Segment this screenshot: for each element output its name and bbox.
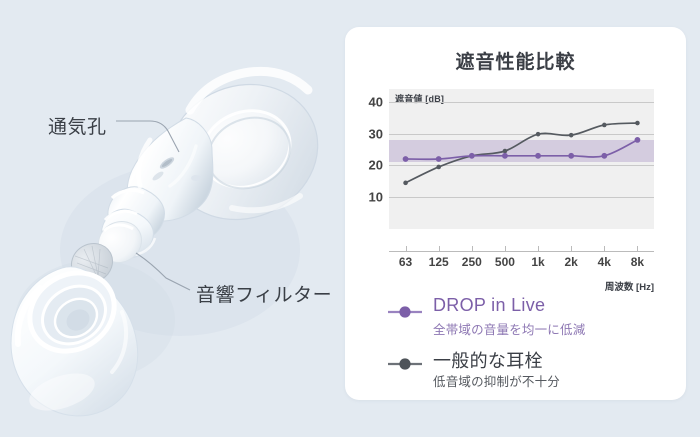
- series-data-point: [536, 132, 541, 137]
- series-data-point: [503, 149, 508, 154]
- series-data-point: [469, 153, 475, 159]
- x-axis-tick-mark: [637, 246, 638, 251]
- earplug-illustration: 通気孔 音響フィルター: [0, 0, 345, 432]
- series-data-point: [568, 153, 574, 159]
- screenshot-root: 通気孔 音響フィルター 遮音性能比較 遮音値 [dB] 10203040 631…: [0, 0, 700, 432]
- legend-item-drop-in-live: DROP in Live 全帯域の音量を均一に低減: [345, 299, 686, 351]
- legend-sublabel-drop-in-live: 全帯域の音量を均一に低減: [433, 319, 585, 338]
- callout-label-filter: 音響フィルター: [196, 280, 332, 307]
- series-data-point: [635, 137, 641, 143]
- series-data-point: [502, 153, 508, 159]
- legend-marker-icon: [387, 305, 423, 319]
- x-axis-tick-label: 1k: [531, 255, 544, 269]
- x-axis-tick-label: 8k: [631, 255, 644, 269]
- series-data-point: [535, 153, 541, 159]
- legend-item-generic-earplug: 一般的な耳栓 低音域の抑制が不十分: [345, 351, 686, 403]
- series-data-point: [403, 181, 408, 186]
- x-axis-tick-label: 4k: [598, 255, 611, 269]
- x-axis-tick-label: 500: [495, 255, 515, 269]
- x-axis-tick-label: 63: [399, 255, 412, 269]
- series-data-point: [403, 156, 409, 162]
- chart-card: 遮音性能比較 遮音値 [dB] 10203040 631252505001k2k…: [345, 27, 686, 400]
- chart-title: 遮音性能比較: [345, 47, 686, 74]
- series-data-point: [635, 121, 640, 126]
- legend-sublabel-generic-earplug: 低音域の抑制が不十分: [433, 371, 560, 390]
- x-axis-tick-mark: [472, 246, 473, 251]
- legend-marker-icon: [387, 357, 423, 371]
- x-axis-tick-label: 2k: [565, 255, 578, 269]
- x-axis-tick-label: 250: [462, 255, 482, 269]
- x-axis-tick-mark: [439, 246, 440, 251]
- x-axis-line: [389, 251, 654, 252]
- x-axis-tick-mark: [505, 246, 506, 251]
- series-data-point: [601, 153, 607, 159]
- legend-label-drop-in-live: DROP in Live: [433, 295, 545, 316]
- earplug-render: [0, 0, 345, 432]
- x-axis-tick-mark: [571, 246, 572, 251]
- series-data-point: [436, 165, 441, 170]
- legend-label-generic-earplug: 一般的な耳栓: [433, 347, 543, 373]
- x-axis-tick-mark: [538, 246, 539, 251]
- chart-legend: DROP in Live 全帯域の音量を均一に低減 一般的な耳栓 低音域の抑制が…: [345, 299, 686, 403]
- x-axis-tick-mark: [406, 246, 407, 251]
- x-axis-tick-mark: [604, 246, 605, 251]
- x-axis-title: 周波数 [Hz]: [605, 279, 654, 293]
- callout-label-vent: 通気孔: [48, 112, 107, 139]
- plot-area: 遮音値 [dB] 10203040 631252505001k2k4k8k 周波…: [345, 89, 686, 279]
- x-axis-tick-label: 125: [429, 255, 449, 269]
- series-data-point: [569, 133, 574, 138]
- series-line: [406, 123, 638, 183]
- series-data-point: [602, 123, 607, 128]
- series-data-point: [436, 156, 442, 162]
